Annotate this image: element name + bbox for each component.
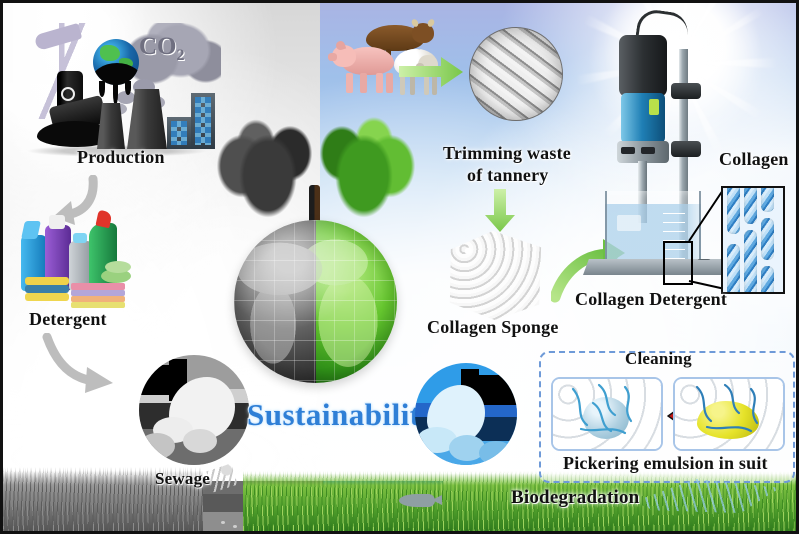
globe-gloss bbox=[234, 220, 397, 383]
graphical-abstract-figure: Biodegradation CO2 bbox=[0, 0, 799, 534]
motor-housing bbox=[619, 35, 667, 97]
bottle-cap-icon bbox=[73, 233, 87, 243]
canopy-green-half bbox=[316, 111, 416, 236]
biodegradation-label: Biodegradation bbox=[511, 487, 639, 509]
clamp-knob-icon bbox=[671, 141, 701, 157]
foam-icon bbox=[183, 429, 217, 453]
trimming-waste-label-line1: Trimming waste bbox=[443, 143, 571, 164]
emulsion-after-panel bbox=[551, 377, 663, 451]
collagen-triple-helix-icon bbox=[721, 186, 785, 294]
factory-icon bbox=[167, 117, 191, 149]
leather-scraps-icon bbox=[469, 27, 563, 121]
sponge-icon bbox=[25, 285, 69, 293]
emulsion-before-panel bbox=[673, 377, 785, 451]
foam-icon bbox=[479, 441, 513, 465]
collagen-squiggle-icon bbox=[559, 381, 659, 447]
canopy-dead-half bbox=[216, 111, 316, 236]
oil-drip-icon bbox=[125, 81, 131, 95]
clean-water-outflow-icon bbox=[415, 363, 517, 465]
folded-cloth-icon bbox=[71, 283, 125, 290]
factory-icon bbox=[191, 93, 215, 149]
debris-icon bbox=[221, 521, 225, 524]
status-badge bbox=[649, 99, 659, 115]
trimming-waste-label-line2: of tannery bbox=[467, 165, 549, 186]
foam-icon bbox=[139, 433, 175, 459]
arrow-right-green-icon bbox=[399, 55, 465, 89]
motor-body-blue bbox=[621, 93, 665, 143]
arrow-down-green-icon bbox=[483, 189, 517, 233]
collagen-detergent-label: Collagen Detergent bbox=[575, 289, 727, 310]
page-title: Sustainability bbox=[247, 397, 437, 433]
sponge-icon bbox=[25, 293, 69, 301]
collagen-label: Collagen bbox=[719, 149, 789, 170]
detergent-bottles-icon bbox=[21, 215, 151, 307]
sewage-outflow-icon bbox=[139, 355, 249, 465]
vent-slots bbox=[621, 147, 635, 154]
cleaning-label: Cleaning bbox=[625, 349, 692, 369]
co2-label: CO2 bbox=[139, 33, 185, 65]
detergent-label: Detergent bbox=[29, 309, 107, 330]
collagen-sponge-label: Collagen Sponge bbox=[427, 317, 559, 338]
oil-drip-icon bbox=[113, 83, 118, 105]
beaker-label bbox=[617, 215, 641, 231]
oil-drip-icon bbox=[99, 81, 105, 97]
bottle-cap-icon bbox=[49, 215, 65, 229]
folded-cloth-icon bbox=[71, 302, 125, 308]
fish-icon bbox=[399, 494, 435, 507]
chuck-icon bbox=[617, 141, 669, 163]
production-scene: CO2 bbox=[21, 17, 216, 157]
sewage-label: Sewage bbox=[155, 469, 210, 489]
building-windows bbox=[171, 121, 187, 145]
production-label: Production bbox=[77, 147, 165, 168]
arrow-curve-gray-icon bbox=[39, 333, 119, 395]
polluted-earth-icon bbox=[93, 39, 139, 85]
soap-bar-icon bbox=[105, 261, 131, 273]
clamp-knob-icon bbox=[671, 83, 701, 99]
pickering-label: Pickering emulsion in suit bbox=[563, 453, 768, 474]
half-dead-half-green-tree-globe-icon bbox=[228, 111, 403, 383]
building-windows bbox=[195, 97, 211, 145]
earth-globe-icon bbox=[234, 220, 397, 383]
barrel-marking bbox=[61, 87, 75, 101]
co2-subscript: 2 bbox=[177, 47, 185, 64]
co2-text: CO bbox=[139, 33, 177, 60]
collagen-squiggle-icon bbox=[681, 381, 781, 447]
sponge-icon bbox=[25, 277, 69, 285]
pickering-emulsion-panel: Cleaning bbox=[539, 351, 795, 483]
